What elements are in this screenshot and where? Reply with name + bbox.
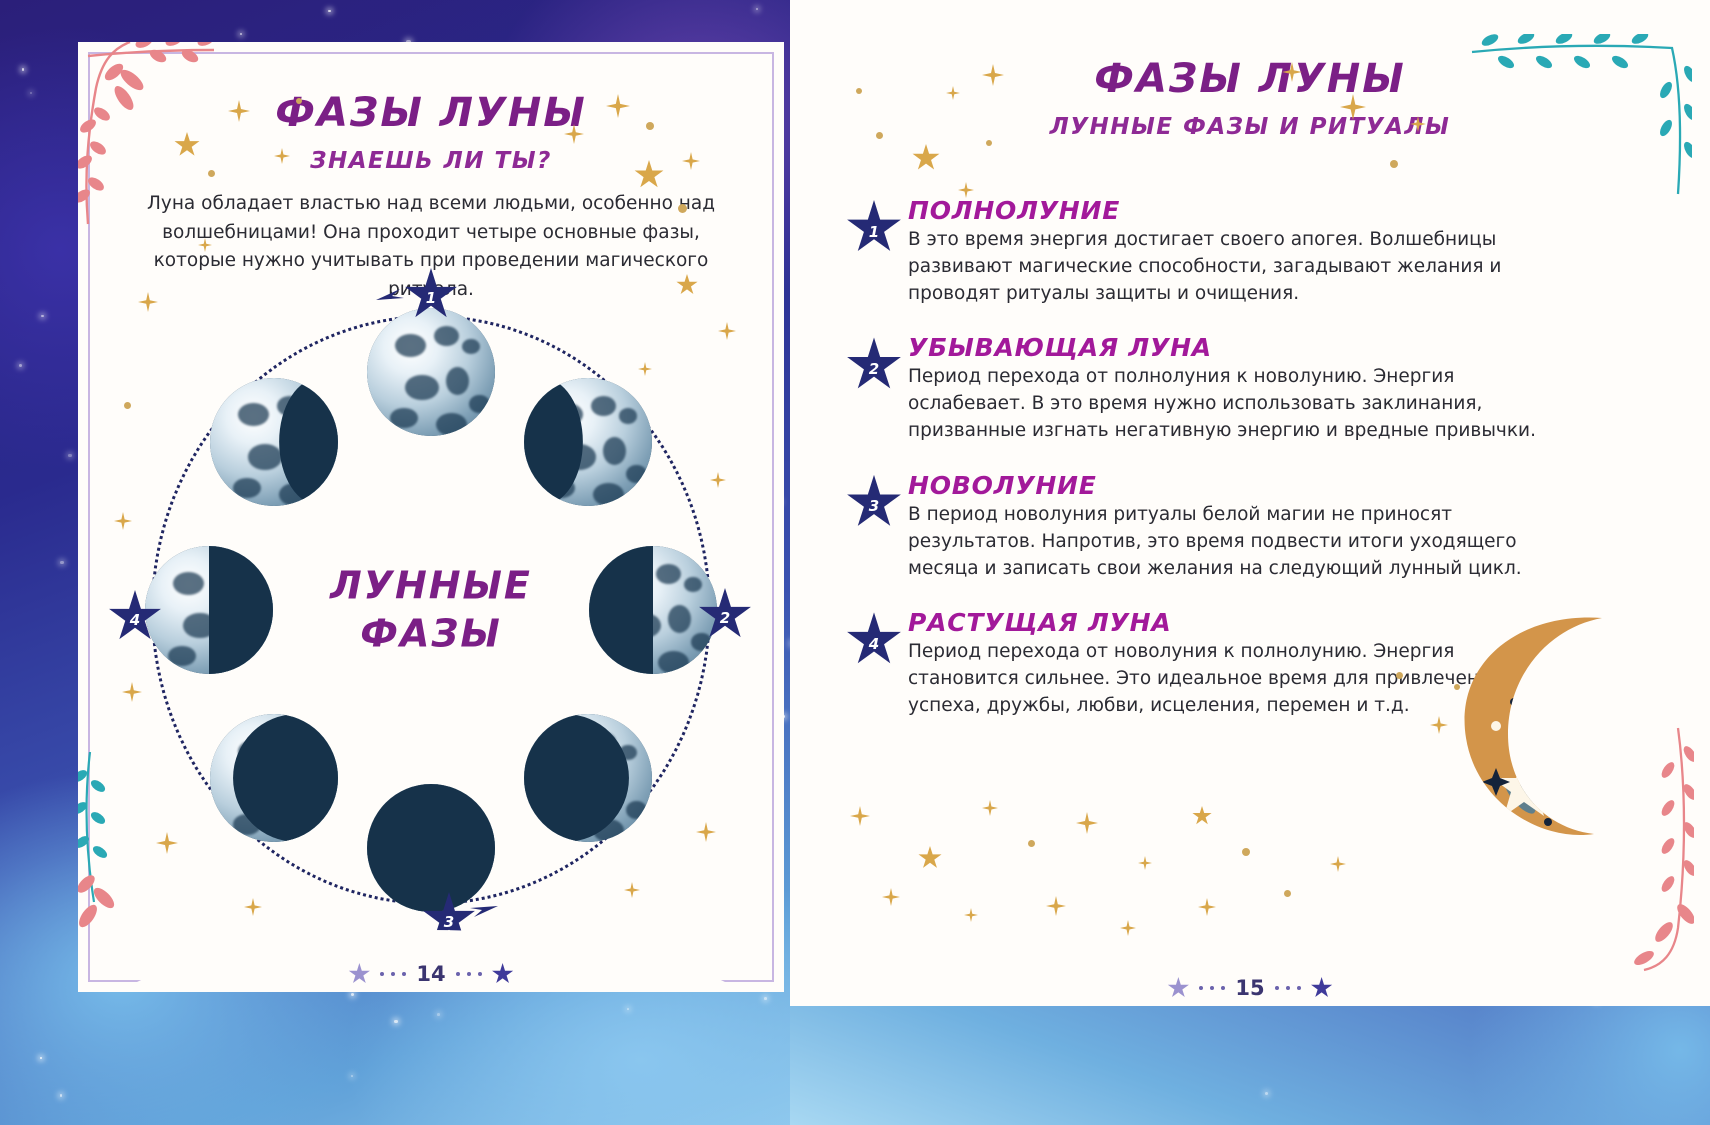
footer-right: 15: [790, 976, 1710, 1000]
section-heading: НОВОЛУНИЕ: [908, 471, 1546, 500]
moon-crater: [390, 408, 418, 428]
moon-lit-surface: [367, 308, 495, 436]
moon-crater: [168, 646, 196, 666]
section-heading: УБЫВАЮЩАЯ ЛУНА: [908, 333, 1546, 362]
section-body: В это время энергия достигает своего апо…: [908, 227, 1546, 307]
moon-phase-first-quarter: [145, 546, 273, 674]
section-number: 3: [869, 497, 879, 515]
phase-marker-number: 1: [426, 289, 436, 307]
page-number-right: 15: [1235, 976, 1264, 1000]
gold-sparkle-icon: [882, 888, 900, 906]
gold-sparkle-icon: [1330, 856, 1346, 872]
footer-star-icon: [492, 963, 514, 985]
orbit-arrow-icon: [466, 898, 500, 922]
gold-sparkle-icon: [1076, 812, 1098, 834]
diagram-center-line2: ФАЗЫ: [301, 610, 561, 658]
page-title-left: ФАЗЫ ЛУНЫ: [78, 90, 784, 136]
phase-marker-number: 4: [130, 611, 140, 629]
moon-crater: [626, 465, 646, 483]
gold-dot-icon: [986, 140, 992, 146]
moon-crater: [446, 367, 469, 395]
footer-dots: [1199, 986, 1225, 990]
moon-crater: [462, 339, 480, 354]
gold-dot-icon: [124, 402, 131, 409]
section-number: 2: [869, 360, 879, 378]
moon-phase-full-moon: [367, 308, 495, 436]
gold-star-icon: [918, 846, 942, 870]
gold-dot-icon: [1028, 840, 1035, 847]
orbit-arrow-icon: [374, 284, 408, 308]
section-heading: РАСТУЩАЯ ЛУНА: [908, 608, 1546, 637]
page-subtitle-right: ЛУННЫЕ ФАЗЫ И РИТУАЛЫ: [790, 114, 1710, 140]
page-number-left: 14: [416, 962, 445, 986]
moon-crater: [658, 651, 689, 674]
section-body: Период перехода от полнолуния к новолуни…: [908, 364, 1546, 444]
moon-crater: [248, 444, 281, 470]
phase-marker-1: 1: [404, 268, 458, 322]
footer-star-icon: [1311, 977, 1333, 999]
ritual-section: 1ПОЛНОЛУНИЕВ это время энергия достигает…: [846, 196, 1546, 307]
moon-crater: [668, 605, 691, 633]
footer-star-icon: [348, 963, 370, 985]
diagram-center-label: ЛУННЫЕ ФАЗЫ: [301, 563, 561, 658]
diagram-center-line1: ЛУННЫЕ: [301, 563, 561, 611]
ritual-section: 4РАСТУЩАЯ ЛУНАПериод перехода от новолун…: [846, 608, 1546, 719]
moon-crater: [238, 403, 269, 426]
section-number: 1: [869, 223, 879, 241]
page-subtitle-left: ЗНАЕШЬ ЛИ ТЫ?: [78, 148, 784, 174]
gold-sparkle-icon: [1198, 898, 1216, 916]
moon-crater: [626, 801, 646, 819]
moon-crater: [593, 483, 624, 506]
gold-dot-icon: [1284, 890, 1291, 897]
gold-star-icon: [1192, 806, 1212, 826]
phase-marker-4: 4: [108, 590, 162, 644]
moon-crater: [603, 437, 626, 465]
moon-phase-waxing-crescent: [210, 714, 338, 842]
footer-star-icon: [1167, 977, 1189, 999]
moon-crater: [233, 478, 261, 498]
phase-marker-number: 2: [720, 609, 730, 627]
footer-dots: [1275, 986, 1301, 990]
gold-dot-icon: [1242, 848, 1250, 856]
moon-phase-waning-gibbous: [524, 378, 652, 506]
gold-sparkle-icon: [1138, 856, 1152, 870]
footer-dots: [380, 972, 406, 976]
moon-crater: [619, 408, 637, 423]
page-title-right: ФАЗЫ ЛУНЫ: [790, 56, 1710, 102]
section-body: В период новолуния ритуалы белой магии н…: [908, 502, 1546, 582]
section-star-2: 2: [846, 337, 902, 393]
section-star-3: 3: [846, 475, 902, 531]
section-star-1: 1: [846, 200, 902, 256]
moon-crater: [395, 334, 426, 357]
moon-crater: [434, 326, 460, 346]
gold-sparkle-icon: [964, 908, 978, 922]
moon-crater: [436, 413, 467, 436]
phase-marker-number: 3: [444, 913, 454, 931]
ritual-section: 2УБЫВАЮЩАЯ ЛУНАПериод перехода от полнол…: [846, 333, 1546, 444]
crescent-moon-illustration: [1452, 606, 1662, 836]
gold-sparkle-icon: [114, 512, 132, 530]
moon-crater: [173, 572, 204, 595]
moon-phase-diagram: ЛУННЫЕ ФАЗЫ 1 2 3 4: [136, 290, 726, 930]
gold-sparkle-icon: [850, 806, 870, 826]
section-number: 4: [869, 635, 879, 653]
ritual-section: 3НОВОЛУНИЕВ период новолуния ритуалы бел…: [846, 471, 1546, 582]
moon-crater: [591, 396, 617, 416]
gold-star-icon: [912, 144, 940, 172]
section-body: Период перехода от новолуния к полнолуни…: [908, 639, 1546, 719]
footer-left: 14: [78, 962, 784, 986]
footer-dots: [456, 972, 482, 976]
gold-sparkle-icon: [982, 800, 998, 816]
book-spread: ФАЗЫ ЛУНЫ ЗНАЕШЬ ЛИ ТЫ? Луна обладает вл…: [0, 0, 1710, 1125]
section-heading: ПОЛНОЛУНИЕ: [908, 196, 1546, 225]
gold-dot-icon: [1390, 160, 1398, 168]
moon-crater: [656, 564, 682, 584]
phase-marker-2: 2: [698, 588, 752, 642]
moon-crater: [405, 375, 438, 401]
moon-crater: [469, 395, 489, 413]
gold-sparkle-icon: [1046, 896, 1066, 916]
right-page: ФАЗЫ ЛУНЫ ЛУННЫЕ ФАЗЫ И РИТУАЛЫ 1ПОЛНОЛУ…: [790, 0, 1710, 1006]
ritual-sections: 1ПОЛНОЛУНИЕВ это время энергия достигает…: [846, 196, 1546, 746]
section-star-4: 4: [846, 612, 902, 668]
moon-phase-waning-crescent: [524, 714, 652, 842]
moon-phase-waxing-gibbous: [210, 378, 338, 506]
gold-sparkle-icon: [1120, 920, 1136, 936]
left-page: ФАЗЫ ЛУНЫ ЗНАЕШЬ ЛИ ТЫ? Луна обладает вл…: [78, 42, 784, 992]
